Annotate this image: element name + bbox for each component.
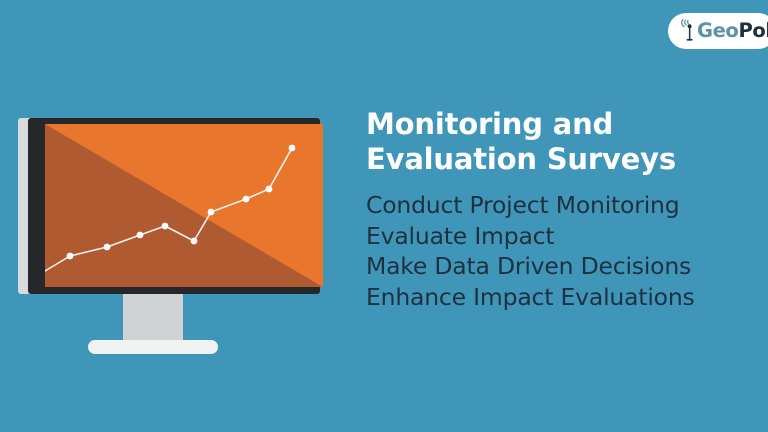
chart-data-point [137,232,144,239]
benefit-list: Conduct Project Monitoring Evaluate Impa… [366,190,756,312]
monitor-screen [45,124,323,287]
chart-data-markers [67,145,296,260]
copy-block: Monitoring and Evaluation Surveys Conduc… [366,107,756,312]
desktop-monitor-illustration [18,118,318,358]
monitor-stand-neck [123,294,183,341]
page-title: Monitoring and Evaluation Surveys [366,107,756,176]
logo-word-poll: Poll [738,19,768,42]
headline-line-2: Evaluation Surveys [366,142,676,176]
chart-data-point [289,145,296,152]
chart-data-point [67,253,74,260]
logo-word-geo: Geo [697,19,738,42]
growth-line-chart [45,124,323,287]
list-item: Conduct Project Monitoring [366,190,756,221]
chart-data-point [162,223,169,230]
list-item: Evaluate Impact [366,221,756,252]
chart-data-point [191,238,198,245]
geopoll-logo[interactable]: GeoPoll [668,13,768,49]
chart-data-point [266,186,273,193]
chart-line-series [45,148,292,271]
monitor-bezel [28,118,320,294]
slide-canvas: GeoPoll Monitoring and Evaluation Survey… [0,0,768,432]
chart-data-point [104,244,111,251]
monitor-stand-base [88,340,218,354]
headline-line-1: Monitoring and [366,107,613,141]
list-item: Make Data Driven Decisions [366,251,756,282]
signal-tower-icon [679,18,696,42]
chart-data-point [243,196,250,203]
logo-wordmark: GeoPoll [697,21,768,41]
list-item: Enhance Impact Evaluations [366,282,756,313]
chart-data-point [208,209,215,216]
